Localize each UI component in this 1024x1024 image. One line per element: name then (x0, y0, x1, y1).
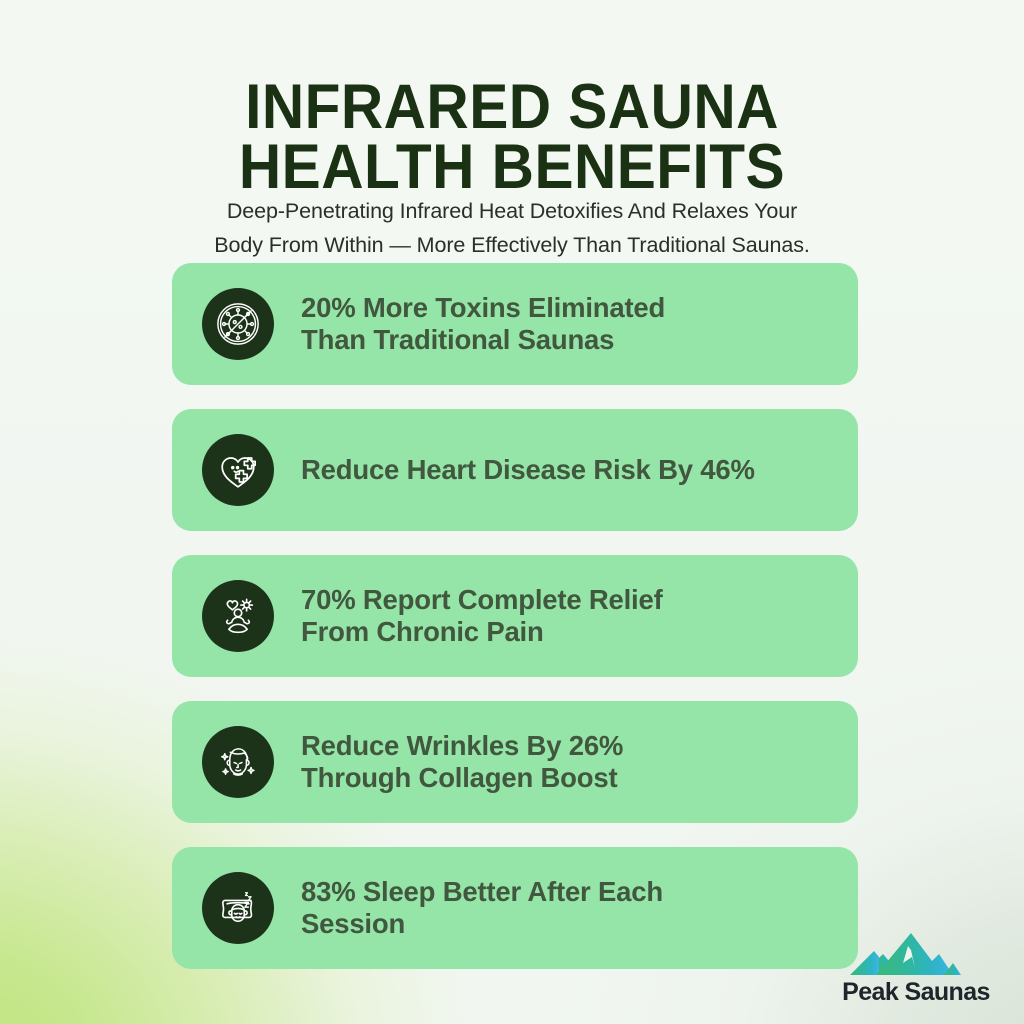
benefit-card-sleep: 83% Sleep Better After Each Session (172, 847, 858, 969)
page-subtitle: Deep-Penetrating Infrared Heat Detoxifie… (132, 194, 892, 264)
page-title: INFRARED SAUNA HEALTH BENEFITS (36, 78, 988, 198)
benefit-line-2: Session (301, 908, 663, 940)
benefit-line-2: Through Collagen Boost (301, 762, 623, 794)
benefit-text-heart: Reduce Heart Disease Risk By 46% (301, 454, 755, 486)
title-line-2: HEALTH BENEFITS (36, 138, 988, 198)
mountain-peaks-icon (849, 930, 983, 978)
benefit-line-1: 83% Sleep Better After Each (301, 876, 663, 908)
poster-content: INFRARED SAUNA HEALTH BENEFITS Deep-Pene… (0, 0, 1024, 1024)
benefit-card-toxins: 20% More Toxins Eliminated Than Traditio… (172, 263, 858, 385)
meditation-icon (202, 580, 274, 652)
no-toxins-icon (202, 288, 274, 360)
benefit-text-pain-relief: 70% Report Complete Relief From Chronic … (301, 584, 663, 649)
subtitle-line-1: Deep-Penetrating Infrared Heat Detoxifie… (132, 194, 892, 229)
benefit-card-wrinkles: Reduce Wrinkles By 26% Through Collagen … (172, 701, 858, 823)
infographic-poster: INFRARED SAUNA HEALTH BENEFITS Deep-Pene… (0, 0, 1024, 1024)
sleep-icon (202, 872, 274, 944)
benefit-line-1: 70% Report Complete Relief (301, 584, 663, 616)
benefit-text-toxins: 20% More Toxins Eliminated Than Traditio… (301, 292, 665, 357)
benefit-line-2: From Chronic Pain (301, 616, 663, 648)
subtitle-line-2: Body From Within — More Effectively Than… (132, 228, 892, 263)
heart-health-icon (202, 434, 274, 506)
benefit-card-pain-relief: 70% Report Complete Relief From Chronic … (172, 555, 858, 677)
benefits-list: 20% More Toxins Eliminated Than Traditio… (172, 263, 858, 993)
benefit-line-2: Than Traditional Saunas (301, 324, 665, 356)
benefit-text-sleep: 83% Sleep Better After Each Session (301, 876, 663, 941)
brand-name: Peak Saunas (832, 979, 1000, 1007)
benefit-card-heart: Reduce Heart Disease Risk By 46% (172, 409, 858, 531)
benefit-line-1: 20% More Toxins Eliminated (301, 292, 665, 324)
benefit-line-1: Reduce Heart Disease Risk By 46% (301, 454, 755, 486)
brand-logo: Peak Saunas (832, 930, 1000, 1007)
title-line-1: INFRARED SAUNA (36, 78, 988, 138)
skin-glow-icon (202, 726, 274, 798)
benefit-text-wrinkles: Reduce Wrinkles By 26% Through Collagen … (301, 730, 623, 795)
benefit-line-1: Reduce Wrinkles By 26% (301, 730, 623, 762)
